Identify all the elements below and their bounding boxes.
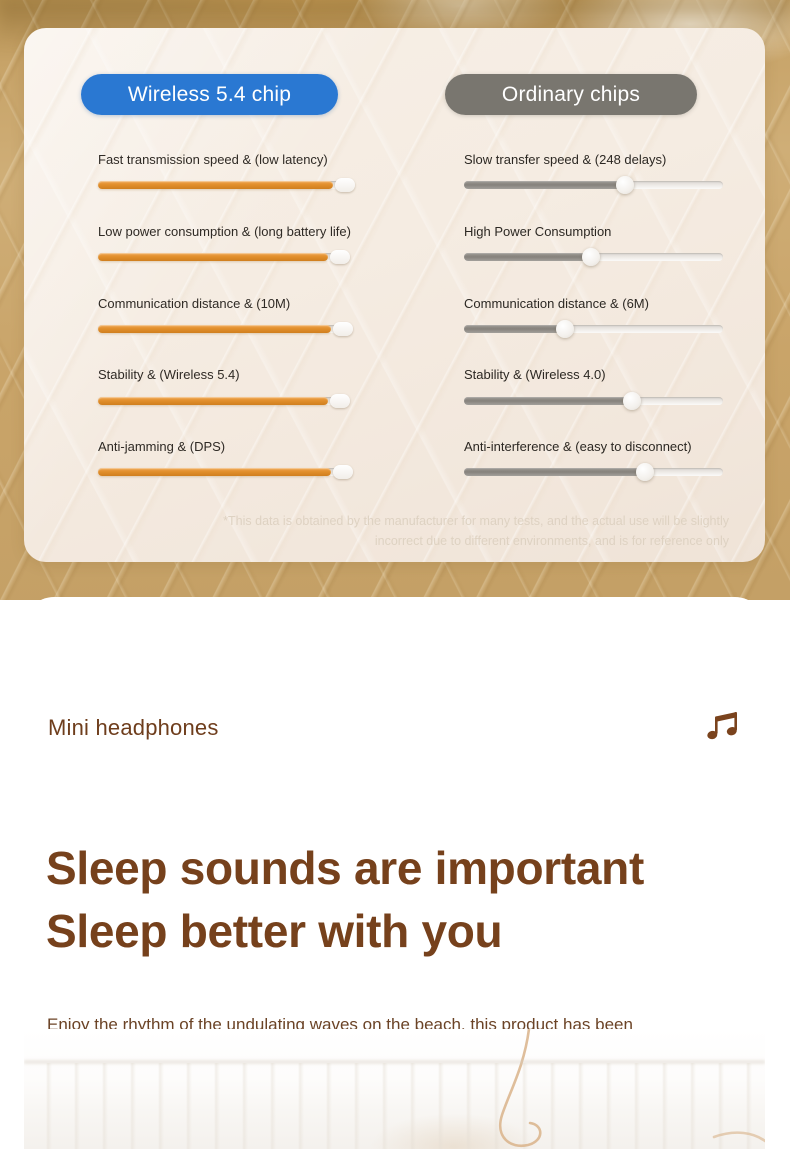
metric-row: Stability & (Wireless 5.4): [98, 367, 348, 407]
metric-label: Communication distance & (10M): [98, 296, 348, 312]
slider-fill: [464, 181, 625, 189]
metric-row: Anti-jamming & (DPS): [98, 439, 348, 479]
slider-thumb[interactable]: [636, 463, 654, 481]
metric-label: Fast transmission speed & (low latency): [98, 152, 348, 168]
pill-ordinary-chips-label: Ordinary chips: [502, 83, 640, 107]
slider-fill: [98, 253, 328, 261]
comparison-column-ordinary: Slow transfer speed & (248 delays) High …: [464, 152, 723, 479]
metric-label: Anti-jamming & (DPS): [98, 439, 348, 455]
slider-fill: [464, 468, 645, 476]
metric-slider-power-consumption[interactable]: [98, 250, 348, 264]
metric-row: Stability & (Wireless 4.0): [464, 367, 723, 407]
pill-wireless-chip-label: Wireless 5.4 chip: [128, 83, 291, 107]
metric-slider-transfer-speed[interactable]: [464, 178, 723, 192]
metric-label: Stability & (Wireless 4.0): [464, 367, 723, 383]
slider-thumb[interactable]: [556, 320, 574, 338]
slider-thumb[interactable]: [333, 322, 353, 336]
slider-fill: [464, 397, 632, 405]
metric-row: Communication distance & (10M): [98, 296, 348, 336]
slider-fill: [98, 181, 333, 189]
slider-thumb[interactable]: [330, 250, 350, 264]
metric-label: High Power Consumption: [464, 224, 723, 240]
slider-thumb[interactable]: [616, 176, 634, 194]
metric-label: Slow transfer speed & (248 delays): [464, 152, 723, 168]
metric-row: High Power Consumption: [464, 224, 723, 264]
metric-label: Stability & (Wireless 5.4): [98, 367, 348, 383]
promo-headline-line-1: Sleep sounds are important: [46, 837, 746, 900]
beamed-eighth-notes-icon: [707, 710, 741, 746]
slider-fill: [98, 397, 328, 405]
comparison-column-wireless: Fast transmission speed & (low latency) …: [98, 152, 348, 479]
metric-row: Anti-interference & (easy to disconnect): [464, 439, 723, 479]
pill-wireless-chip: Wireless 5.4 chip: [81, 74, 338, 115]
metric-slider-communication-distance[interactable]: [98, 322, 348, 336]
brand-name: Mini headphones: [48, 715, 219, 741]
pill-ordinary-chips: Ordinary chips: [445, 74, 697, 115]
metric-row: Low power consumption & (long battery li…: [98, 224, 348, 264]
slider-fill: [464, 325, 565, 333]
slider-thumb[interactable]: [582, 248, 600, 266]
earphone-cable-illustration: [24, 1029, 765, 1149]
metric-row: Fast transmission speed & (low latency): [98, 152, 348, 192]
slider-thumb[interactable]: [333, 465, 353, 479]
metric-slider-high-power[interactable]: [464, 250, 723, 264]
chip-comparison-card: Wireless 5.4 chip Ordinary chips Fast tr…: [24, 28, 765, 562]
metric-slider-stability[interactable]: [98, 394, 348, 408]
metric-label: Anti-interference & (easy to disconnect): [464, 439, 723, 455]
metric-slider-communication-distance-6m[interactable]: [464, 322, 723, 336]
metric-label: Communication distance & (6M): [464, 296, 723, 312]
promo-panel: Mini headphones Sleep sounds are importa…: [24, 597, 765, 1149]
slider-thumb[interactable]: [330, 394, 350, 408]
product-detail-page: Wireless 5.4 chip Ordinary chips Fast tr…: [0, 0, 790, 1149]
metric-slider-anti-jamming[interactable]: [98, 465, 348, 479]
metric-slider-stability-40[interactable]: [464, 394, 723, 408]
metric-row: Communication distance & (6M): [464, 296, 723, 336]
slider-fill: [98, 468, 331, 476]
slider-fill: [98, 325, 331, 333]
promo-brand-row: Mini headphones: [48, 710, 741, 746]
metric-slider-transmission-speed[interactable]: [98, 178, 348, 192]
metric-row: Slow transfer speed & (248 delays): [464, 152, 723, 192]
promo-headline: Sleep sounds are important Sleep better …: [46, 837, 746, 964]
metric-label: Low power consumption & (long battery li…: [98, 224, 348, 240]
slider-fill: [464, 253, 591, 261]
slider-thumb[interactable]: [623, 392, 641, 410]
metric-slider-anti-interference[interactable]: [464, 465, 723, 479]
bedding-photo: [24, 1029, 765, 1149]
comparison-disclaimer: *This data is obtained by the manufactur…: [206, 512, 729, 552]
promo-headline-line-2: Sleep better with you: [46, 900, 746, 963]
slider-thumb[interactable]: [335, 178, 355, 192]
